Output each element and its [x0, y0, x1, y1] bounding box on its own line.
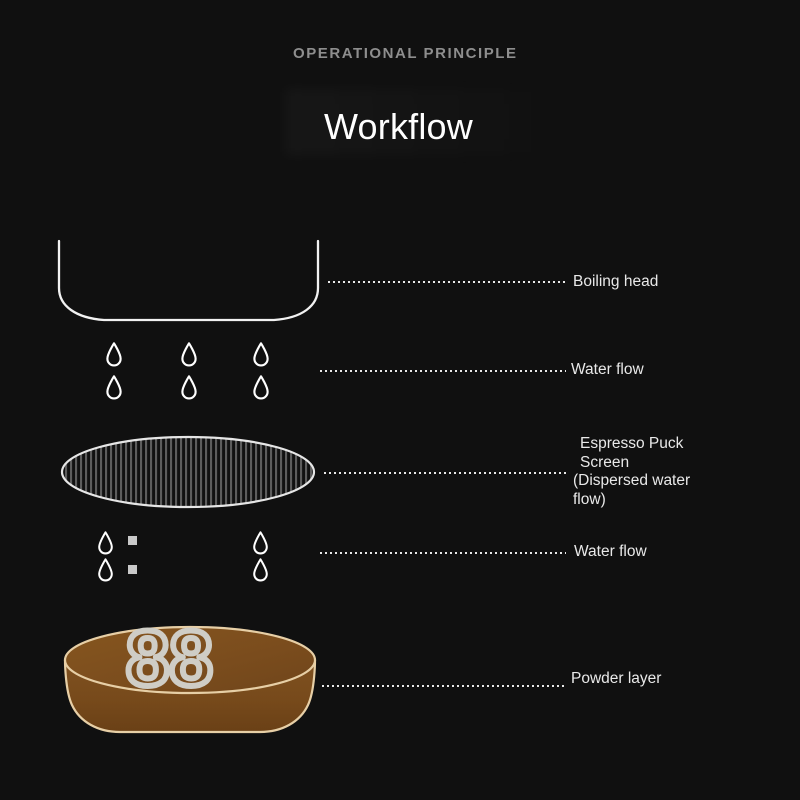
leader-line-water-flow-lower: [320, 552, 566, 554]
leader-line-powder-layer: [322, 685, 566, 687]
powder-overlay-digits: 88: [126, 614, 213, 702]
mist-square-upper: [128, 536, 137, 545]
water-droplets-lower: [99, 532, 267, 580]
leader-line-boiling-head: [328, 281, 566, 283]
label-espresso-puck-screen-sub: (Dispersed water flow): [573, 471, 690, 509]
overlay-digits-text: 88: [126, 614, 213, 702]
leader-line-water-flow-upper: [320, 370, 566, 372]
label-water-flow-lower: Water flow: [574, 542, 647, 561]
espresso-puck-screen-shape: [62, 437, 314, 507]
leader-line-puck-screen: [324, 472, 566, 474]
workflow-illustration: 88: [0, 0, 800, 800]
label-powder-layer: Powder layer: [571, 669, 661, 688]
water-droplets-upper: [107, 343, 267, 398]
label-espresso-puck-screen: Espresso Puck Screen: [580, 434, 683, 472]
label-water-flow-upper: Water flow: [571, 360, 644, 379]
label-boiling-head: Boiling head: [573, 272, 658, 291]
mist-square-lower: [128, 565, 137, 574]
diagram-page: OPERATIONAL PRINCIPLE Workflow: [0, 0, 800, 800]
boiling-head-shape: [59, 241, 318, 320]
